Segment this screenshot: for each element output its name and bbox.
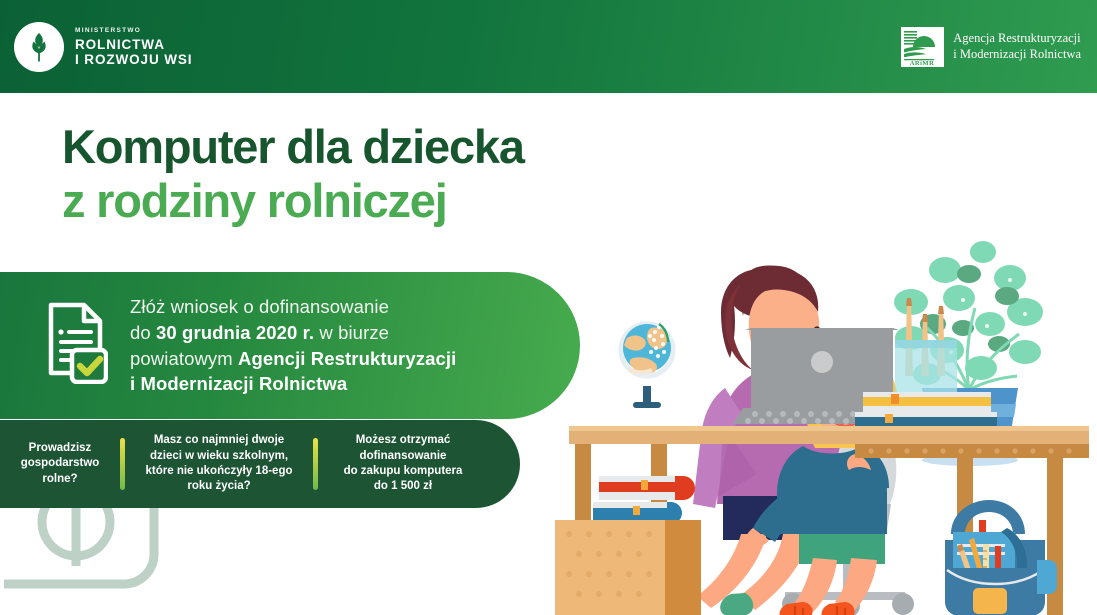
condition-2-line-4: roku życia? <box>133 479 305 494</box>
ministry-line1: ROLNICTWA <box>75 38 192 52</box>
cta-agency-1: Agencji Restrukturyzacji <box>238 348 456 369</box>
svg-text:ARiMR: ARiMR <box>910 60 935 67</box>
page-title: Komputer dla dziecka z rodziny rolniczej <box>62 122 524 226</box>
cta-deadline: 30 grudnia 2020 r. <box>156 322 314 343</box>
cta-agency-2: i Modernizacji Rolnictwa <box>130 373 347 394</box>
book-stack-on-desk <box>855 392 997 430</box>
cta-banner: Złóż wniosek o dofinansowanie do 30 grud… <box>0 272 580 419</box>
book-stack-under-desk <box>593 476 695 524</box>
condition-1-line-3: rolne? <box>8 472 112 487</box>
condition-2-line-3: które nie ukończyły 18-ego <box>133 464 305 479</box>
condition-3-line-4: do 1 500 zł <box>326 479 480 494</box>
cta-text: Złóż wniosek o dofinansowanie do 30 grud… <box>130 294 456 396</box>
agency-logo: ARiMR Agencja Restrukturyzacji i Moderni… <box>901 27 1081 67</box>
poster-canvas: MINISTERSTWO ROLNICTWA I ROZWOJU WSI <box>0 0 1097 615</box>
ministry-eyebrow: MINISTERSTWO <box>75 28 192 35</box>
wheat-ear-icon <box>14 22 64 72</box>
condition-3-line-1: Możesz otrzymać <box>326 433 480 448</box>
agency-line2: i Modernizacji Rolnictwa <box>953 47 1081 63</box>
cta-line2-suffix: w biurze <box>314 322 389 343</box>
mother-and-child-at-laptop-illustration <box>555 228 1097 615</box>
condition-1-line-2: gospodarstwo <box>8 456 112 471</box>
title-line-2: z rodziny rolniczej <box>62 176 524 225</box>
condition-item-3: Możesz otrzymać dofinansowanie do zakupu… <box>318 433 488 494</box>
condition-2-line-2: dzieci w wieku szkolnym, <box>133 449 305 464</box>
ministry-logo: MINISTERSTWO ROLNICTWA I ROZWOJU WSI <box>14 22 192 72</box>
condition-2-line-1: Masz co najmniej dwoje <box>133 433 305 448</box>
arimr-sun-field-icon: ARiMR <box>901 27 944 67</box>
agency-line1: Agencja Restrukturyzacji <box>953 31 1081 47</box>
backpack-icon <box>945 500 1057 615</box>
condition-item-1: Prowadzisz gospodarstwo rolne? <box>0 441 120 487</box>
cta-line1: Złóż wniosek o dofinansowanie <box>130 296 389 317</box>
conditions-banner: Prowadzisz gospodarstwo rolne? Masz co n… <box>0 420 520 508</box>
ministry-line2: I ROZWOJU WSI <box>75 53 192 67</box>
condition-3-line-3: do zakupu komputera <box>326 464 480 479</box>
stool <box>555 520 701 615</box>
condition-item-2: Masz co najmniej dwoje dzieci w wieku sz… <box>125 433 313 494</box>
header-bar: MINISTERSTWO ROLNICTWA I ROZWOJU WSI <box>0 0 1097 93</box>
condition-3-line-2: dofinansowanie <box>326 449 480 464</box>
title-line-1: Komputer dla dziecka <box>62 122 524 171</box>
cta-line3-prefix: powiatowym <box>130 348 238 369</box>
cta-line2-prefix: do <box>130 322 156 343</box>
condition-1-line-1: Prowadzisz <box>8 441 112 456</box>
document-check-icon <box>32 302 108 389</box>
globe-icon <box>619 324 675 408</box>
